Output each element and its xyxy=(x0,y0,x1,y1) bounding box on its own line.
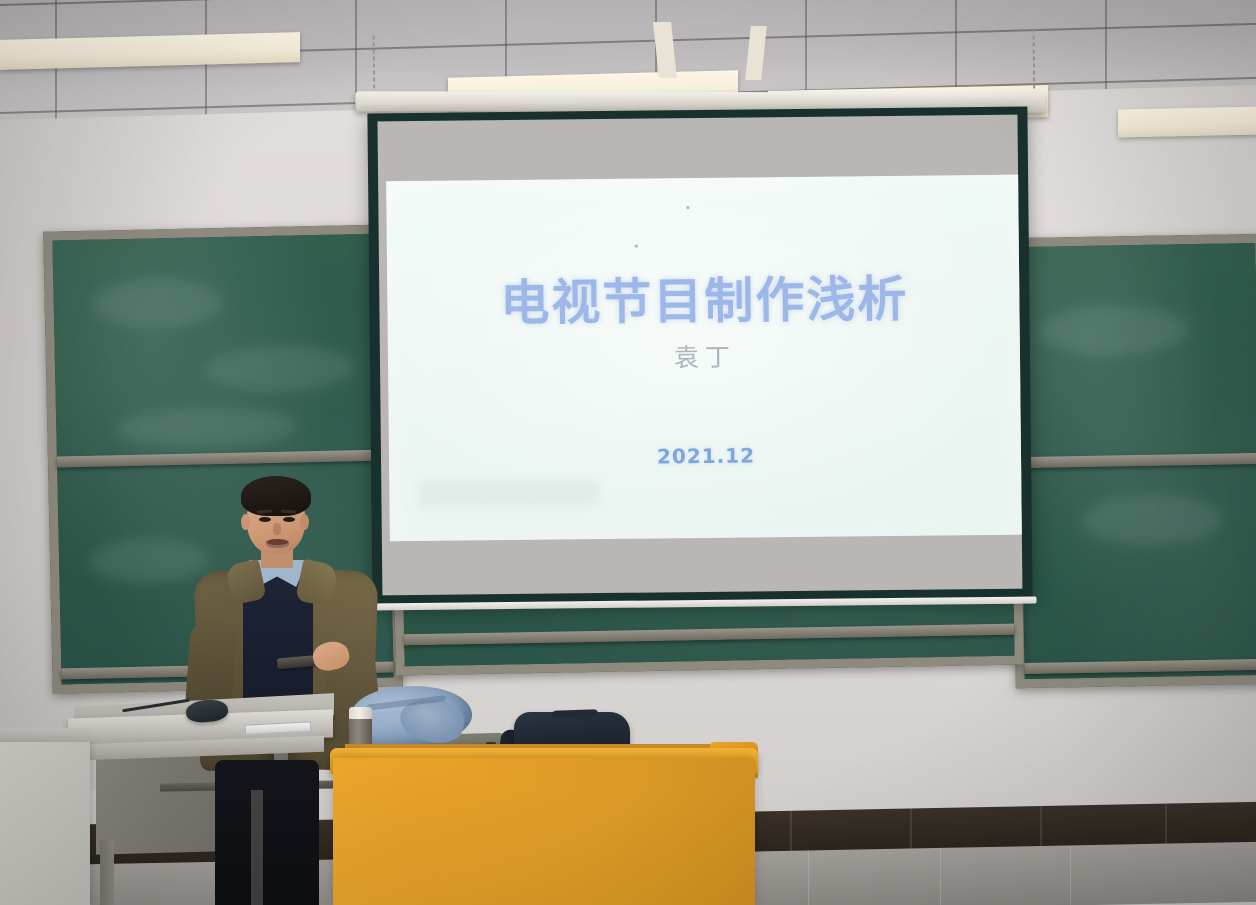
slide-title: 电视节目制作浅析 xyxy=(387,259,1022,337)
nose xyxy=(273,523,281,535)
storage-cabinet[interactable]: ▪▪▪▪▪▪ xyxy=(0,735,90,905)
hair xyxy=(241,476,311,516)
trousers xyxy=(215,760,319,905)
slide-ghost-artifact xyxy=(419,479,599,507)
cabinet-top xyxy=(0,728,94,742)
water-bottle-cap xyxy=(349,707,372,719)
desk-leg-left xyxy=(100,840,114,905)
eye-left xyxy=(259,517,271,522)
leg-gap xyxy=(251,790,263,905)
chalkboard-right xyxy=(1008,234,1256,688)
screen-frame: 电视节目制作浅析 袁丁 2021.12 xyxy=(367,107,1032,606)
mouth xyxy=(266,539,289,548)
ceiling-light-4 xyxy=(1118,107,1256,138)
lectern[interactable] xyxy=(333,758,755,905)
slide-author: 袁丁 xyxy=(388,335,1022,378)
ear-left xyxy=(241,514,250,530)
ear-right xyxy=(300,514,309,530)
screen-surface: 电视节目制作浅析 袁丁 2021.12 xyxy=(377,115,1022,596)
eye-right xyxy=(283,517,295,522)
slide-date: 2021.12 xyxy=(389,441,1023,472)
classroom-photo: 电视节目制作浅析 袁丁 2021.12 xyxy=(0,0,1256,905)
slide-canvas: 电视节目制作浅析 袁丁 2021.12 xyxy=(386,175,1022,542)
navy-bag-strap xyxy=(552,709,598,719)
projection-screen: 电视节目制作浅析 袁丁 2021.12 xyxy=(367,107,1032,614)
